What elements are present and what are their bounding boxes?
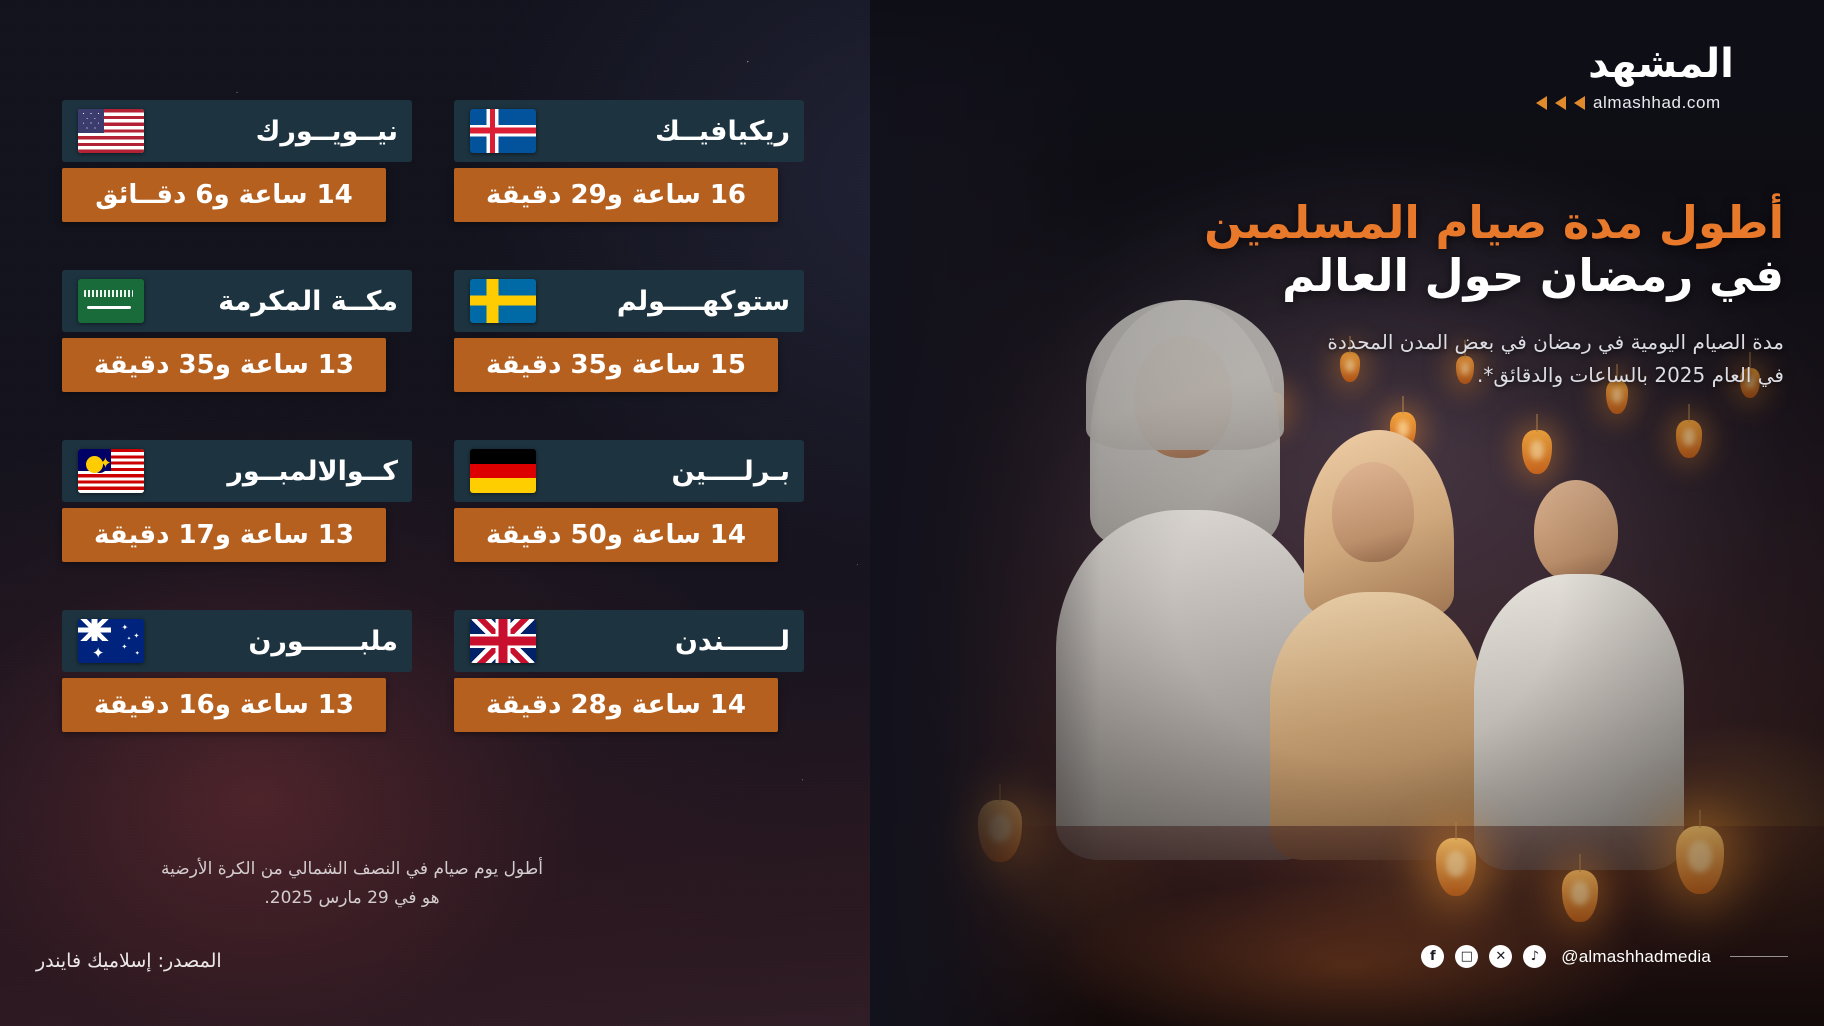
headline-block: أطول مدة صيام المسلمين في رمضان حول العا…	[1044, 196, 1784, 392]
tiktok-icon[interactable]: ♪	[1523, 945, 1546, 968]
iftar-family-photo	[870, 0, 1824, 1026]
page-title-line-2: في رمضان حول العالم	[1044, 249, 1784, 302]
city-card-header: لــــــندن	[454, 610, 804, 672]
social-handle-label: @almashhadmedia	[1561, 947, 1711, 967]
flag-united-kingdom-icon	[470, 619, 536, 663]
social-media-bar: f □ ✕ ♪ @almashhadmedia	[1421, 945, 1788, 968]
city-card-header: ستوكهــــولم	[454, 270, 804, 332]
footnote-block: أطول يوم صيام في النصف الشمالي من الكرة …	[62, 855, 642, 913]
triangle-right-icon	[1536, 96, 1547, 110]
page-subtitle-line-1: مدة الصيام اليومية في رمضان في بعض المدن…	[1044, 326, 1784, 359]
city-card-reykjavik[interactable]: ريكيافيــك 16 ساعة و29 دقيقة	[454, 100, 804, 222]
fasting-duration-label: 14 ساعة و50 دقيقة	[486, 520, 746, 550]
brand-logo[interactable]: المشهد almashhad.com	[1536, 44, 1786, 113]
flag-united-states-icon	[78, 109, 144, 153]
city-name-label: ريكيافيــك	[655, 116, 790, 147]
city-name-label: بـرلــــين	[671, 456, 790, 487]
city-card-london[interactable]: لــــــندن 14 ساعة و28 دقيقة	[454, 610, 804, 732]
city-card-melbourne[interactable]: ملبــــــورن ✦✦✦ ✦✦✦ 13 ساعة و16 دقيقة	[62, 610, 412, 732]
city-cards-grid: نيــويــورك 14 ساعة و6 دقــائق مكــة الم…	[62, 100, 804, 732]
facebook-icon[interactable]: f	[1421, 945, 1444, 968]
fasting-duration-bar: 14 ساعة و28 دقيقة	[454, 678, 778, 732]
city-card-header: ريكيافيــك	[454, 100, 804, 162]
page-subtitle: مدة الصيام اليومية في رمضان في بعض المدن…	[1044, 326, 1784, 392]
footnote-line-1: أطول يوم صيام في النصف الشمالي من الكرة …	[62, 855, 642, 884]
city-card-kuala-lumpur[interactable]: كــوالالمبــور ✦ 13 ساعة و17 دقيقة	[62, 440, 412, 562]
fasting-duration-bar: 13 ساعة و35 دقيقة	[62, 338, 386, 392]
fasting-duration-bar: 13 ساعة و16 دقيقة	[62, 678, 386, 732]
instagram-icon[interactable]: □	[1455, 945, 1478, 968]
city-card-berlin[interactable]: بـرلــــين 14 ساعة و50 دقيقة	[454, 440, 804, 562]
footnote-line-2: هو في 29 مارس 2025.	[62, 884, 642, 913]
fasting-duration-bar: 15 ساعة و35 دقيقة	[454, 338, 778, 392]
fasting-duration-bar: 14 ساعة و50 دقيقة	[454, 508, 778, 562]
city-name-label: مكــة المكرمة	[218, 286, 398, 317]
flag-australia-icon: ✦✦✦ ✦✦✦	[78, 619, 144, 663]
city-name-label: نيــويــورك	[256, 116, 398, 147]
fasting-duration-bar: 16 ساعة و29 دقيقة	[454, 168, 778, 222]
page-subtitle-line-2: في العام 2025 بالساعات والدقائق*.	[1044, 359, 1784, 392]
flag-iceland-icon	[470, 109, 536, 153]
divider-line	[1730, 956, 1788, 957]
fasting-duration-label: 15 ساعة و35 دقيقة	[486, 350, 746, 380]
fasting-duration-bar: 14 ساعة و6 دقــائق	[62, 168, 386, 222]
page-title-line-1: أطول مدة صيام المسلمين	[1044, 196, 1784, 249]
brand-logo-wordmark: المشهد	[1536, 44, 1786, 84]
city-cards-column-left: ريكيافيــك 16 ساعة و29 دقيقة ستوكهــــول…	[454, 100, 804, 732]
infographic-canvas: المشهد almashhad.com أطول مدة صيام المسل…	[0, 0, 1824, 1026]
fasting-duration-bar: 13 ساعة و17 دقيقة	[62, 508, 386, 562]
triangle-right-icon	[1574, 96, 1585, 110]
flag-sweden-icon	[470, 279, 536, 323]
brand-website-label: almashhad.com	[1593, 93, 1721, 113]
fasting-duration-label: 13 ساعة و16 دقيقة	[94, 690, 354, 720]
city-card-makkah[interactable]: مكــة المكرمة 13 ساعة و35 دقيقة	[62, 270, 412, 392]
fasting-duration-label: 13 ساعة و17 دقيقة	[94, 520, 354, 550]
city-cards-column-right: نيــويــورك 14 ساعة و6 دقــائق مكــة الم…	[62, 100, 412, 732]
brand-logo-url-row: almashhad.com	[1536, 93, 1786, 113]
fasting-duration-label: 14 ساعة و6 دقــائق	[95, 180, 353, 210]
city-name-label: ملبــــــورن	[248, 626, 398, 657]
city-name-label: لــــــندن	[675, 626, 790, 657]
city-card-new-york[interactable]: نيــويــورك 14 ساعة و6 دقــائق	[62, 100, 412, 222]
city-card-header: كــوالالمبــور ✦	[62, 440, 412, 502]
city-card-header: مكــة المكرمة	[62, 270, 412, 332]
flag-malaysia-icon: ✦	[78, 449, 144, 493]
x-twitter-icon[interactable]: ✕	[1489, 945, 1512, 968]
source-label: المصدر: إسلاميك فايندر	[36, 950, 222, 972]
flag-germany-icon	[470, 449, 536, 493]
fasting-duration-label: 16 ساعة و29 دقيقة	[486, 180, 746, 210]
flag-saudi-arabia-icon	[78, 279, 144, 323]
triangle-right-icon	[1555, 96, 1566, 110]
city-name-label: ستوكهــــولم	[617, 286, 790, 317]
fasting-duration-label: 14 ساعة و28 دقيقة	[486, 690, 746, 720]
city-name-label: كــوالالمبــور	[227, 456, 398, 487]
city-card-stockholm[interactable]: ستوكهــــولم 15 ساعة و35 دقيقة	[454, 270, 804, 392]
city-card-header: نيــويــورك	[62, 100, 412, 162]
city-card-header: ملبــــــورن ✦✦✦ ✦✦✦	[62, 610, 412, 672]
city-card-header: بـرلــــين	[454, 440, 804, 502]
fasting-duration-label: 13 ساعة و35 دقيقة	[94, 350, 354, 380]
